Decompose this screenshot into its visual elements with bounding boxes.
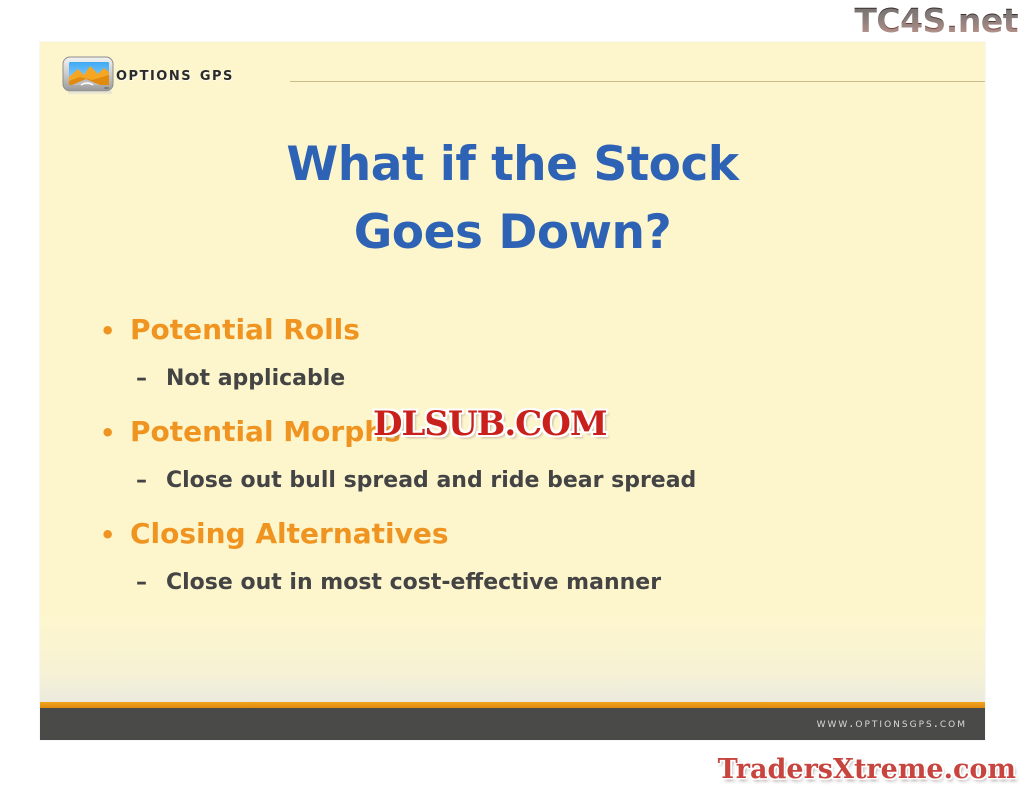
bullet-item-potential-rolls: • Potential Rolls xyxy=(92,305,955,356)
header-divider xyxy=(290,81,985,82)
dlsub-watermark: DLSUB.COM xyxy=(373,404,606,444)
bullet-item-closing-alternatives: • Closing Alternatives xyxy=(92,509,955,560)
sub-bullet-marker: – xyxy=(136,356,166,402)
title-line-2: Goes Down? xyxy=(40,199,985,267)
tc4s-watermark: TC4S.net xyxy=(854,1,1018,41)
slide-header: Options GPS xyxy=(40,42,985,100)
tradersxtreme-watermark: TradersXtreme.com xyxy=(718,753,1016,787)
bullet-marker: • xyxy=(92,306,130,356)
logo-wordmark: Options GPS xyxy=(116,64,234,85)
bullet-group: • Potential Rolls – Not applicable xyxy=(92,305,955,402)
bullet-label: Closing Alternatives xyxy=(130,509,449,559)
sub-bullet-item: – Not applicable xyxy=(92,356,955,402)
bullet-group: • Closing Alternatives – Close out in mo… xyxy=(92,509,955,606)
sub-bullet-item: – Close out bull spread and ride bear sp… xyxy=(92,458,955,504)
bullet-label: Potential Rolls xyxy=(130,305,360,355)
gps-device-icon xyxy=(60,55,120,97)
page-title: What if the Stock Goes Down? xyxy=(40,131,985,267)
sub-bullet-label: Close out bull spread and ride bear spre… xyxy=(166,458,696,504)
bullet-list: • Potential Rolls – Not applicable • Pot… xyxy=(92,305,955,611)
sub-bullet-marker: – xyxy=(136,560,166,606)
sub-bullet-label: Close out in most cost-effective manner xyxy=(166,560,661,606)
bullet-label: Potential Morphs xyxy=(130,407,401,457)
sub-bullet-item: – Close out in most cost-effective manne… xyxy=(92,560,955,606)
sub-bullet-marker: – xyxy=(136,458,166,504)
sub-bullet-label: Not applicable xyxy=(166,356,345,402)
slide-footer: www.OptionsGPS.com xyxy=(40,708,985,740)
bullet-marker: • xyxy=(92,408,130,458)
footer-url: www.OptionsGPS.com xyxy=(817,716,967,731)
bullet-marker: • xyxy=(92,510,130,560)
title-line-1: What if the Stock xyxy=(40,131,985,199)
presentation-slide: Options GPS What if the Stock Goes Down?… xyxy=(40,42,985,740)
